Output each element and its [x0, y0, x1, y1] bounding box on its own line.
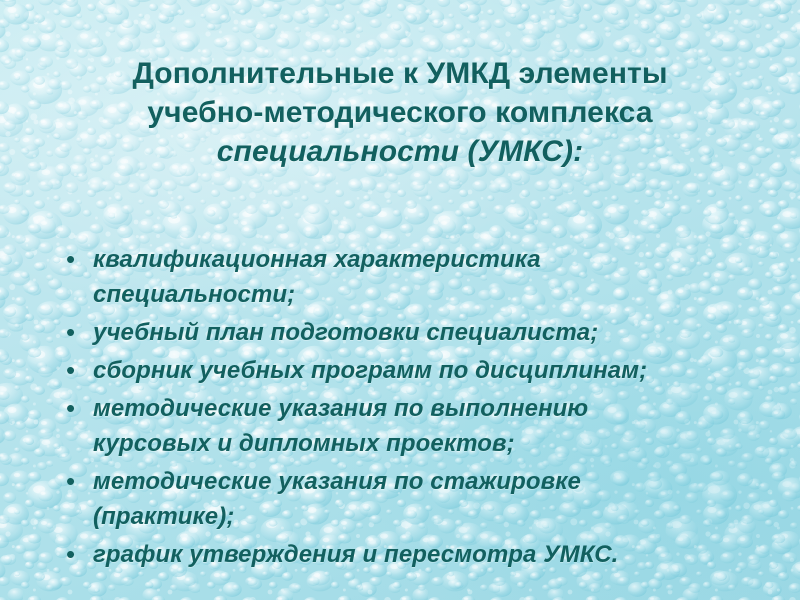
slide-title: Дополнительные к УМКД элементы учебно-ме… — [52, 54, 748, 171]
list-item-text: график утверждения и пересмотра УМКС. — [93, 537, 760, 572]
list-item-line: (практике); — [93, 503, 234, 530]
list-item-line: квалификационная характеристика — [93, 246, 541, 273]
bullet-dot-icon: • — [60, 391, 93, 426]
bullet-list: • квалификационная характеристика специа… — [60, 242, 760, 575]
list-item: • методические указания по выполнению ку… — [60, 391, 760, 461]
list-item: • учебный план подготовки специалиста; — [60, 315, 760, 350]
list-item-line: сборник учебных программ по дисциплинам; — [93, 357, 647, 384]
title-line-1: Дополнительные к УМКД элементы — [52, 54, 748, 93]
list-item-text: сборник учебных программ по дисциплинам; — [93, 353, 760, 388]
list-item: • методические указания по стажировке (п… — [60, 464, 760, 534]
list-item-text: учебный план подготовки специалиста; — [93, 315, 760, 350]
bullet-dot-icon: • — [60, 537, 93, 572]
list-item: • сборник учебных программ по дисциплина… — [60, 353, 760, 388]
presentation-slide: Дополнительные к УМКД элементы учебно-ме… — [0, 0, 800, 600]
list-item-text: квалификационная характеристика специаль… — [93, 242, 760, 312]
bullet-dot-icon: • — [60, 242, 93, 277]
bullet-dot-icon: • — [60, 464, 93, 499]
list-item: • график утверждения и пересмотра УМКС. — [60, 537, 760, 572]
title-line-3: специальности (УМКС): — [52, 132, 748, 171]
list-item-line: методические указания по выполнению — [93, 395, 588, 422]
list-item-line: график утверждения и пересмотра УМКС. — [93, 541, 618, 568]
list-item-line: учебный план подготовки специалиста; — [93, 319, 598, 346]
bullet-dot-icon: • — [60, 353, 93, 388]
title-line-2: учебно-методического комплекса — [52, 93, 748, 132]
list-item-text: методические указания по стажировке (пра… — [93, 464, 760, 534]
slide-content: Дополнительные к УМКД элементы учебно-ме… — [0, 0, 800, 600]
list-item: • квалификационная характеристика специа… — [60, 242, 760, 312]
list-item-text: методические указания по выполнению курс… — [93, 391, 760, 461]
list-item-line: специальности; — [93, 281, 295, 308]
bullet-dot-icon: • — [60, 315, 93, 350]
list-item-line: курсовых и дипломных проектов; — [93, 430, 515, 457]
list-item-line: методические указания по стажировке — [93, 468, 581, 495]
